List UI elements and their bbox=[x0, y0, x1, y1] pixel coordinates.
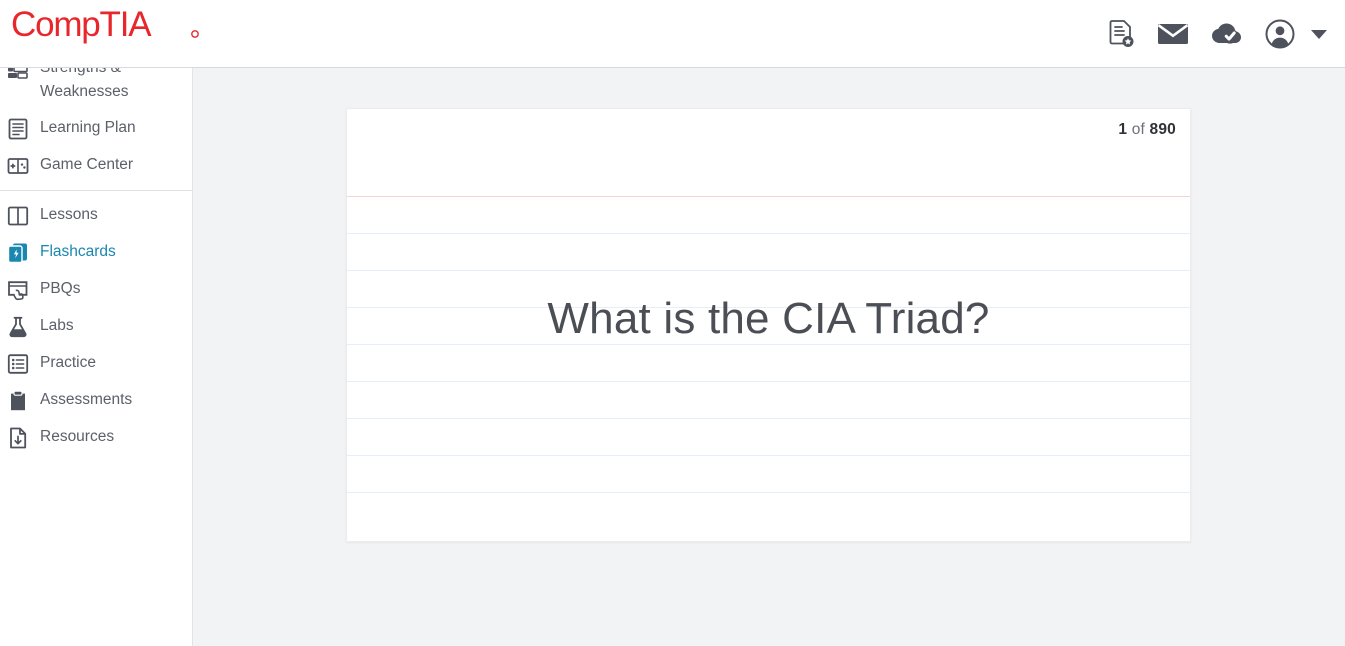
certificate-document-icon[interactable] bbox=[1109, 20, 1135, 48]
app-header: CompTIA bbox=[0, 0, 1345, 68]
rule-line bbox=[347, 492, 1190, 493]
sidebar-item-label: Resources bbox=[40, 425, 114, 449]
sidebar-group-progress: Strengths & Weaknesses Learning Plan bbox=[0, 56, 192, 184]
sidebar-item-label: PBQs bbox=[40, 277, 80, 301]
sidebar-item-game-center[interactable]: Game Center bbox=[0, 147, 192, 184]
flashcard[interactable]: 1 of 890 What is the CIA Triad? bbox=[346, 108, 1191, 542]
rule-line bbox=[347, 381, 1190, 382]
chevron-down-icon[interactable] bbox=[1311, 30, 1327, 39]
svg-text:CompTIA: CompTIA bbox=[11, 7, 152, 44]
sidebar-item-pbqs[interactable]: PBQs bbox=[0, 271, 192, 308]
flashcard-counter-current: 1 bbox=[1118, 121, 1127, 138]
mail-icon[interactable] bbox=[1157, 22, 1189, 46]
account-circle-icon[interactable] bbox=[1265, 19, 1295, 49]
sidebar-nav: Strengths & Weaknesses Learning Plan bbox=[0, 56, 193, 646]
sidebar-item-label: Game Center bbox=[40, 153, 133, 177]
sidebar-item-label: Practice bbox=[40, 351, 96, 375]
sidebar-item-label: Learning Plan bbox=[40, 116, 136, 140]
rule-line bbox=[347, 270, 1190, 271]
cloud-check-icon[interactable] bbox=[1211, 22, 1243, 46]
sidebar-item-labs[interactable]: Labs bbox=[0, 308, 192, 345]
comptia-logo[interactable]: CompTIA bbox=[11, 6, 206, 46]
app-root: CompTIA bbox=[0, 0, 1345, 646]
sidebar-item-label: Flashcards bbox=[40, 240, 116, 264]
rule-line bbox=[347, 455, 1190, 456]
sidebar-item-assessments[interactable]: Assessments bbox=[0, 382, 192, 419]
download-file-icon bbox=[6, 426, 30, 450]
flashcard-counter-separator: of bbox=[1127, 121, 1149, 138]
sidebar-item-learning-plan[interactable]: Learning Plan bbox=[0, 110, 192, 147]
sidebar-item-practice[interactable]: Practice bbox=[0, 345, 192, 382]
flashcard-front-text: What is the CIA Triad? bbox=[347, 293, 1190, 345]
sidebar-item-label: Lessons bbox=[40, 203, 98, 227]
pbq-cursor-icon bbox=[6, 278, 30, 302]
clipboard-icon bbox=[6, 389, 30, 413]
rule-line bbox=[347, 418, 1190, 419]
document-lines-icon bbox=[6, 117, 30, 141]
checklist-icon bbox=[6, 352, 30, 376]
rule-line-header bbox=[347, 196, 1190, 197]
open-book-icon bbox=[6, 204, 30, 228]
sidebar-item-resources[interactable]: Resources bbox=[0, 419, 192, 456]
flask-icon bbox=[6, 315, 30, 339]
rule-line bbox=[347, 233, 1190, 234]
header-icon-group bbox=[1109, 0, 1327, 68]
game-controller-icon bbox=[6, 154, 30, 178]
flashcards-icon bbox=[6, 241, 30, 265]
flashcard-counter: 1 of 890 bbox=[1118, 121, 1176, 139]
sidebar-item-label: Labs bbox=[40, 314, 74, 338]
sidebar-item-label: Assessments bbox=[40, 388, 132, 412]
main-content: 1 of 890 What is the CIA Triad? bbox=[193, 56, 1345, 646]
sidebar-item-flashcards[interactable]: Flashcards bbox=[0, 234, 192, 271]
sidebar-item-lessons[interactable]: Lessons bbox=[0, 197, 192, 234]
flashcard-counter-total: 890 bbox=[1150, 121, 1176, 138]
sidebar-group-study: Lessons Flashcards bbox=[0, 190, 192, 456]
